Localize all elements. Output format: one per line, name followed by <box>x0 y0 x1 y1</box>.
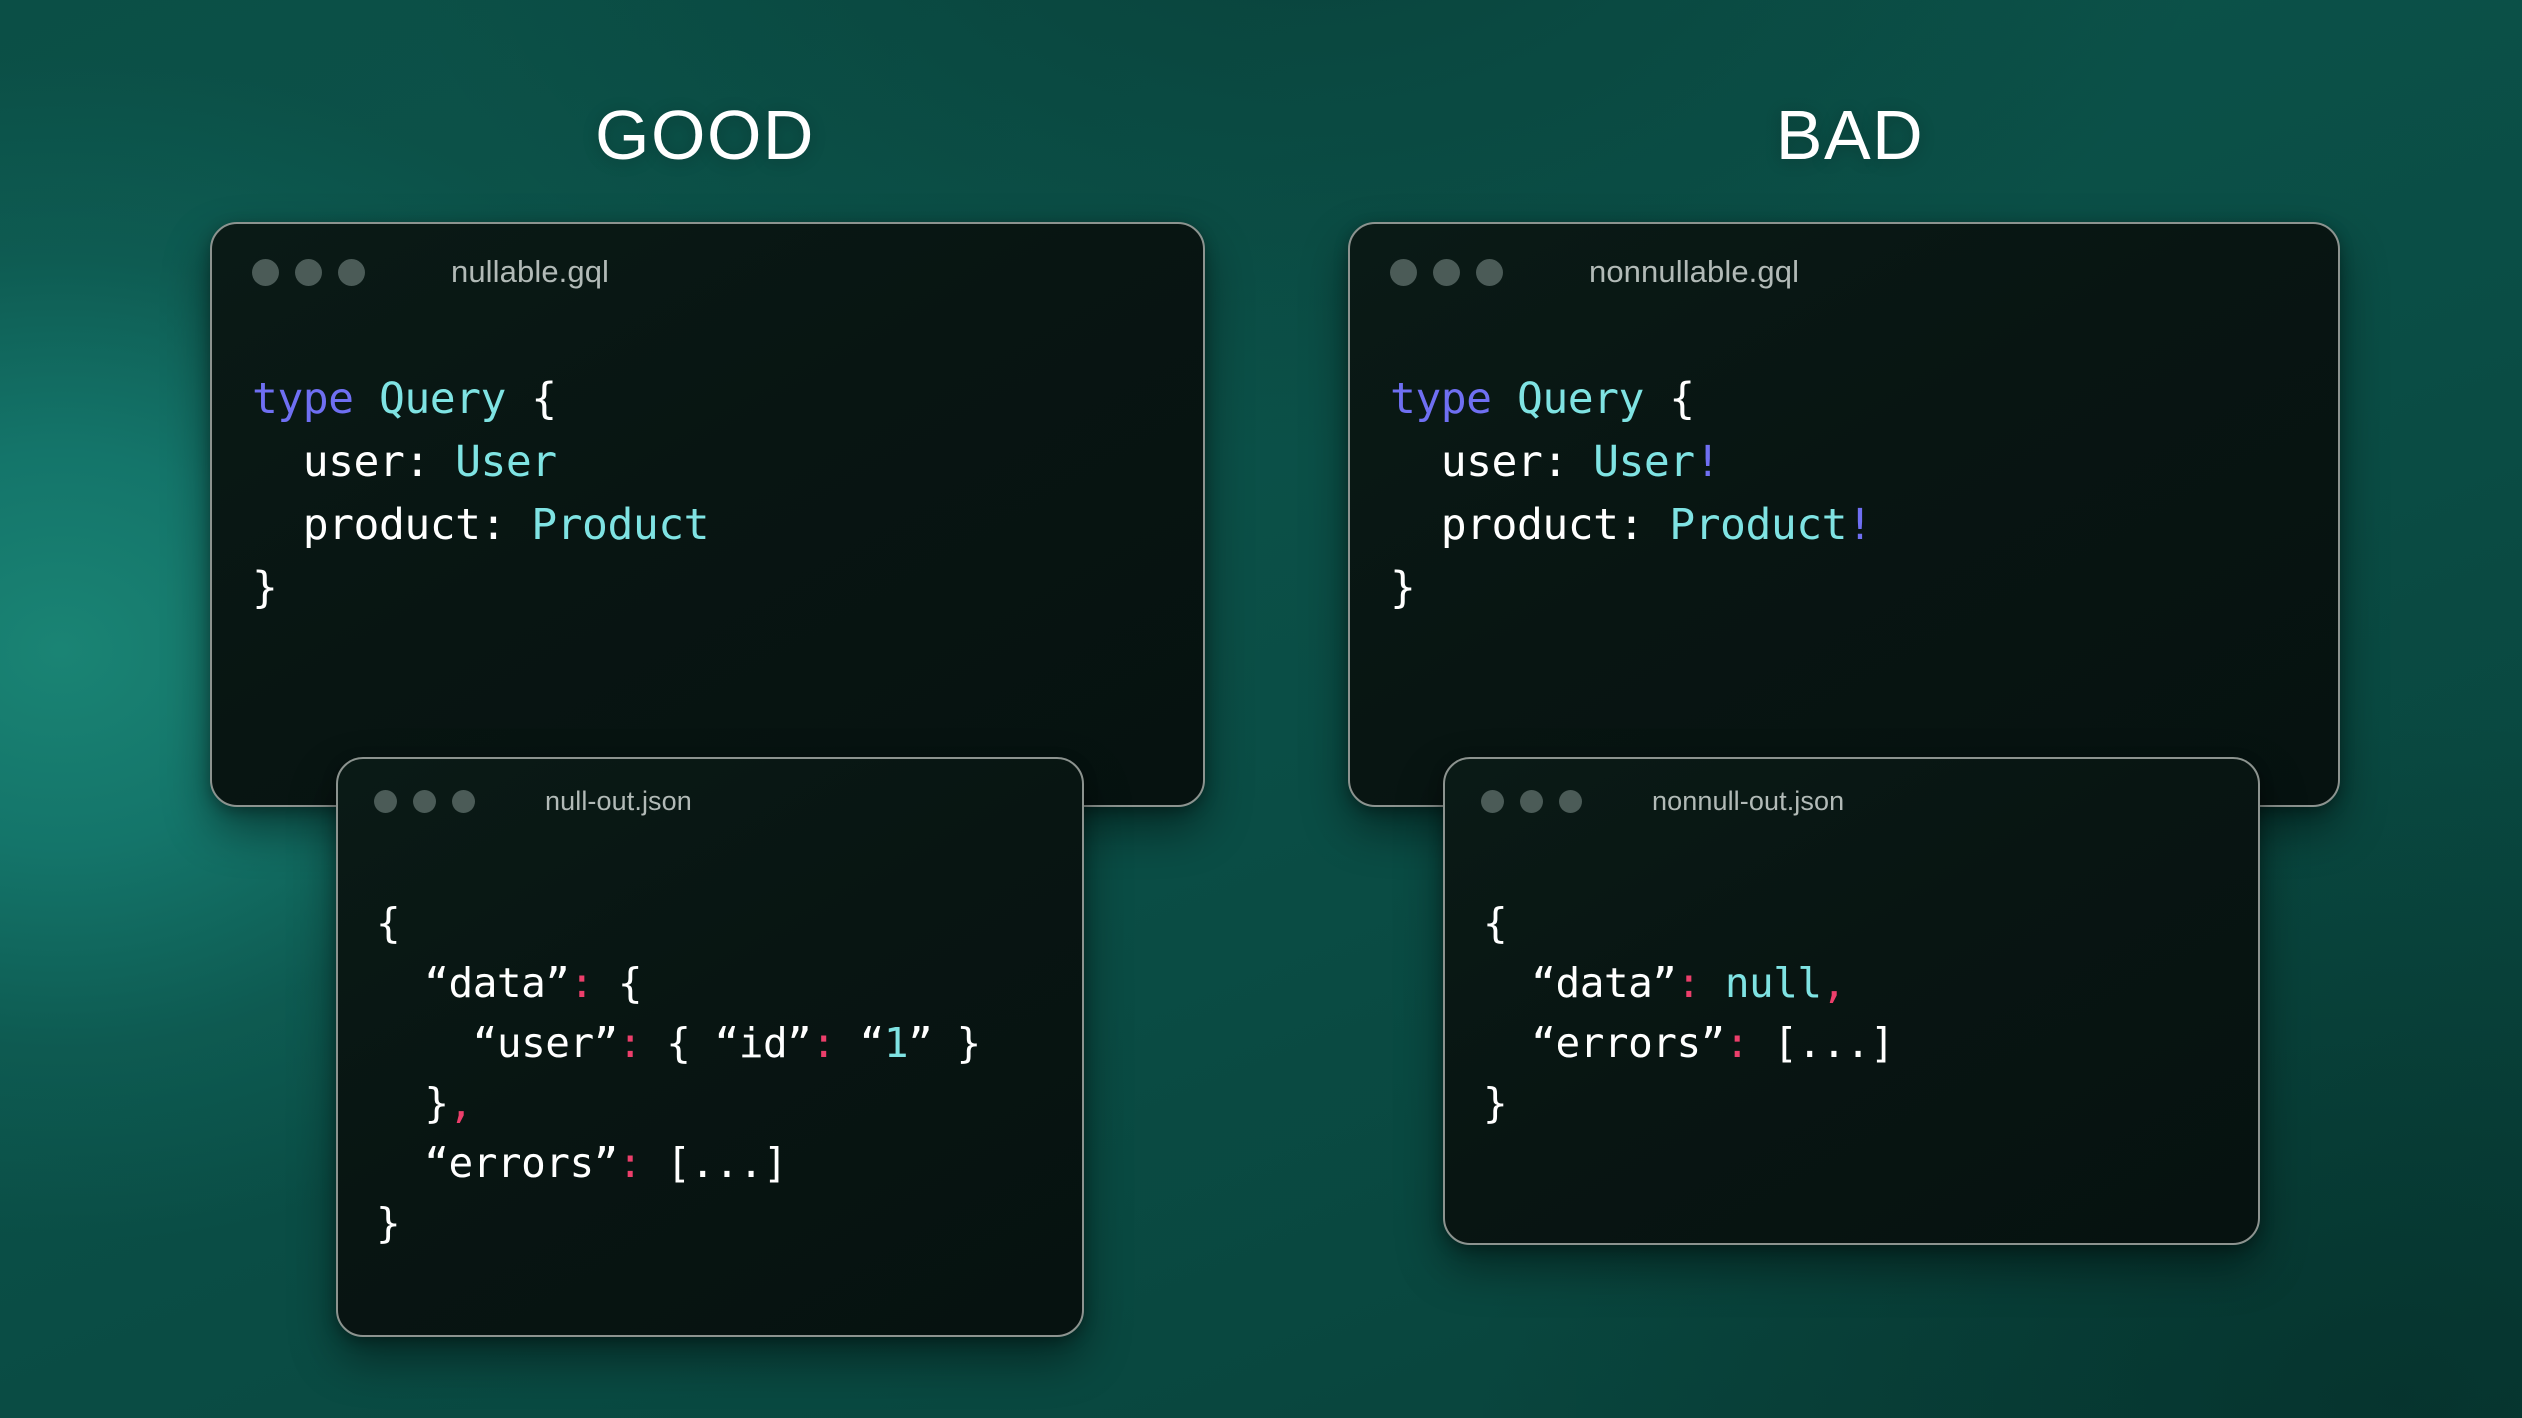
good-output-traffic-lights <box>374 790 475 813</box>
code-token: null <box>1725 959 1822 1007</box>
code-token: User <box>1593 437 1695 487</box>
code-token <box>1644 374 1669 424</box>
code-token: “ <box>836 1019 884 1067</box>
good-output-code: { “data”: { “user”: { “id”: “1” } }, “er… <box>338 893 1082 1253</box>
good-output-window[interactable]: null-out.json { “data”: { “user”: { “id”… <box>336 757 1084 1337</box>
code-line: type Query { <box>1390 368 2338 431</box>
code-line: “errors”: [...] <box>1483 1013 2258 1073</box>
code-token: product <box>252 500 481 550</box>
code-token: : <box>811 1019 835 1067</box>
bad-column-heading: BAD <box>1700 100 2000 170</box>
code-token: } <box>1483 1079 1507 1127</box>
code-line: user: User! <box>1390 431 2338 494</box>
code-token: , <box>1822 959 1846 1007</box>
code-token: Query <box>379 374 506 424</box>
bad-schema-window[interactable]: nonnullable.gql type Query { user: User!… <box>1348 222 2340 807</box>
minimize-dot-icon[interactable] <box>1520 790 1543 813</box>
bad-schema-traffic-lights <box>1390 259 1503 286</box>
code-token: Product <box>531 500 709 550</box>
code-line: product: Product! <box>1390 494 2338 557</box>
code-line: user: User <box>252 431 1203 494</box>
code-line: “data”: null, <box>1483 953 2258 1013</box>
code-token: user <box>252 437 404 487</box>
code-line: }, <box>376 1073 1082 1133</box>
bad-schema-code: type Query { user: User! product: Produc… <box>1350 368 2338 620</box>
code-token: ” } <box>908 1019 981 1067</box>
code-line: type Query { <box>252 368 1203 431</box>
good-schema-filename: nullable.gql <box>451 254 609 290</box>
code-line: { <box>1483 893 2258 953</box>
code-token: { <box>1669 374 1694 424</box>
code-token: “data” <box>376 959 569 1007</box>
code-token: “errors” <box>376 1139 618 1187</box>
code-token: type <box>1390 374 1492 424</box>
code-token <box>354 374 379 424</box>
code-token: { “id” <box>642 1019 811 1067</box>
code-line: } <box>376 1193 1082 1253</box>
maximize-dot-icon[interactable] <box>1476 259 1503 286</box>
good-output-filename: null-out.json <box>545 786 692 817</box>
code-token: “user” <box>376 1019 618 1067</box>
good-schema-code: type Query { user: User product: Product… <box>212 368 1203 620</box>
code-token: “data” <box>1483 959 1676 1007</box>
code-token <box>1701 959 1725 1007</box>
good-column-heading: GOOD <box>555 100 855 170</box>
close-dot-icon[interactable] <box>1390 259 1417 286</box>
code-token: } <box>376 1199 400 1247</box>
code-token: : <box>618 1019 642 1067</box>
code-token: } <box>1390 563 1415 613</box>
bad-schema-filename: nonnullable.gql <box>1589 254 1799 290</box>
bad-output-traffic-lights <box>1481 790 1582 813</box>
code-token: type <box>252 374 354 424</box>
code-token <box>506 374 531 424</box>
code-token: } <box>252 563 277 613</box>
code-line: { <box>376 893 1082 953</box>
good-schema-window[interactable]: nullable.gql type Query { user: User pro… <box>210 222 1205 807</box>
code-token: Product <box>1669 500 1847 550</box>
code-token: product <box>1390 500 1619 550</box>
code-token: ! <box>1847 500 1872 550</box>
maximize-dot-icon[interactable] <box>452 790 475 813</box>
close-dot-icon[interactable] <box>374 790 397 813</box>
code-line: } <box>1483 1073 2258 1133</box>
good-output-titlebar: null-out.json <box>338 759 1082 843</box>
bad-output-titlebar: nonnull-out.json <box>1445 759 2258 843</box>
code-token: { <box>594 959 642 1007</box>
code-line: “errors”: [...] <box>376 1133 1082 1193</box>
code-line: “user”: { “id”: “1” } <box>376 1013 1082 1073</box>
code-token: [...] <box>1749 1019 1894 1067</box>
code-token: User <box>455 437 557 487</box>
maximize-dot-icon[interactable] <box>1559 790 1582 813</box>
code-line: “data”: { <box>376 953 1082 1013</box>
code-token: : <box>618 1139 642 1187</box>
good-schema-traffic-lights <box>252 259 365 286</box>
code-token: } <box>376 1079 449 1127</box>
code-token: : <box>481 500 532 550</box>
bad-output-code: { “data”: null, “errors”: [...]} <box>1445 893 2258 1133</box>
code-token: , <box>449 1079 473 1127</box>
code-token: Query <box>1517 374 1644 424</box>
minimize-dot-icon[interactable] <box>295 259 322 286</box>
good-schema-titlebar: nullable.gql <box>212 224 1203 320</box>
minimize-dot-icon[interactable] <box>1433 259 1460 286</box>
code-token: ! <box>1695 437 1720 487</box>
code-line: } <box>252 557 1203 620</box>
code-token: { <box>1483 899 1507 947</box>
code-token: user <box>1390 437 1542 487</box>
code-token: [...] <box>642 1139 787 1187</box>
code-line: product: Product <box>252 494 1203 557</box>
code-line: } <box>1390 557 2338 620</box>
code-token: : <box>1619 500 1670 550</box>
code-token: : <box>1725 1019 1749 1067</box>
code-token: : <box>569 959 593 1007</box>
maximize-dot-icon[interactable] <box>338 259 365 286</box>
bad-output-filename: nonnull-out.json <box>1652 786 1844 817</box>
code-token: { <box>531 374 556 424</box>
close-dot-icon[interactable] <box>252 259 279 286</box>
bad-schema-titlebar: nonnullable.gql <box>1350 224 2338 320</box>
code-token: : <box>1676 959 1700 1007</box>
code-token: : <box>1542 437 1593 487</box>
code-token: “errors” <box>1483 1019 1725 1067</box>
code-token <box>1492 374 1517 424</box>
code-token: 1 <box>884 1019 908 1067</box>
code-token: { <box>376 899 400 947</box>
comparison-stage: GOOD BAD nullable.gql type Query { user:… <box>0 0 2522 1418</box>
code-token: : <box>404 437 455 487</box>
close-dot-icon[interactable] <box>1481 790 1504 813</box>
minimize-dot-icon[interactable] <box>413 790 436 813</box>
bad-output-window[interactable]: nonnull-out.json { “data”: null, “errors… <box>1443 757 2260 1245</box>
